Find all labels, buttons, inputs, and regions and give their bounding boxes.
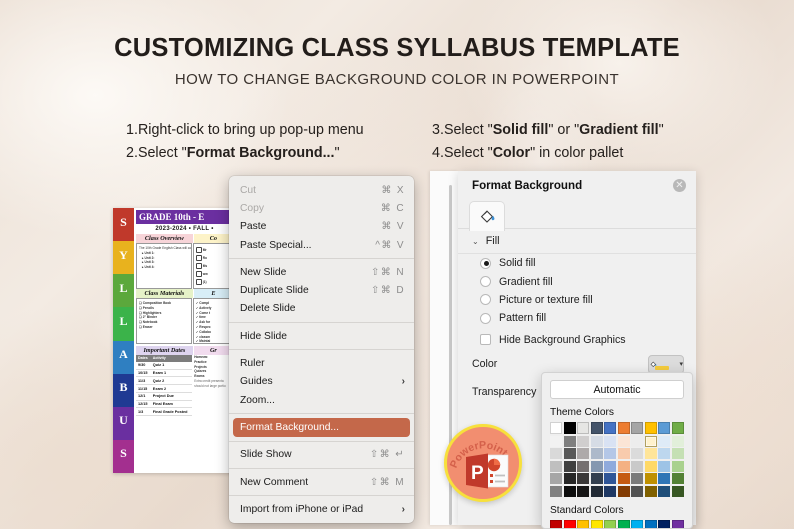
menu-separator [229, 441, 414, 442]
chevron-down-icon[interactable]: ▾ [679, 360, 683, 368]
contact-icon [196, 263, 202, 269]
overview-unit: ▸ Unit 4: [139, 265, 189, 270]
section-important-dates: Important Dates [136, 346, 193, 355]
menu-item-new-comment[interactable]: New Comment⇧⌘ M [229, 473, 414, 491]
theme-swatch-2-0[interactable] [550, 461, 562, 472]
step-2-emphasis: Format Background... [187, 145, 335, 161]
menu-item-shortcut: ⇧⌘ N [371, 267, 405, 278]
standard-swatch-9[interactable] [672, 520, 684, 529]
grading-list: Homewo Practice Projects Quizzes ExamsEx… [193, 355, 233, 416]
menu-item-label: Zoom... [240, 395, 405, 406]
important-dates-table: DatesActivity 9/30Quiz 110/15Exam 111/3Q… [136, 355, 192, 416]
syllabus-tab-0: S [113, 208, 134, 241]
theme-colors-label: Theme Colors [550, 407, 684, 418]
contact-rows: MrRoMsww(1) [193, 243, 233, 289]
menu-item-slide-show[interactable]: Slide Show⇧⌘ ↵ [229, 446, 414, 464]
theme-swatch-0-5[interactable] [618, 436, 630, 447]
grading-note: Extra credit presenta should not large p… [194, 379, 233, 389]
theme-swatch-3-2[interactable] [577, 473, 589, 484]
menu-item-label: Ruler [240, 358, 405, 369]
theme-swatch-1-4[interactable] [604, 448, 616, 459]
menu-item-label: Hide Slide [240, 331, 405, 342]
theme-swatch-2-8[interactable] [658, 461, 670, 472]
contact-row: ww [196, 270, 230, 278]
menu-item-cut: Cut⌘ X [229, 181, 414, 199]
standard-colors-row[interactable] [550, 520, 684, 529]
menu-separator [229, 468, 414, 469]
table-row: 11/15Exam 2 [136, 385, 192, 393]
standard-swatch-1[interactable] [564, 520, 576, 529]
fill-option-label: Pattern fill [499, 312, 546, 324]
section-class-overview: Class Overview [136, 234, 193, 243]
standard-swatch-4[interactable] [604, 520, 616, 529]
fill-option-label: Picture or texture fill [499, 294, 593, 306]
theme-swatch-3-4[interactable] [604, 473, 616, 484]
menu-item-format-background[interactable]: Format Background... [233, 418, 410, 436]
table-row: 10/15Exam 1 [136, 369, 192, 377]
page-title: CUSTOMIZING CLASS SYLLABUS TEMPLATE [0, 34, 794, 63]
menu-item-label: New Slide [240, 267, 371, 278]
hide-background-graphics-option[interactable]: Hide Background Graphics [458, 328, 696, 349]
theme-swatch-4-1[interactable] [564, 486, 576, 497]
contact-icon [196, 255, 202, 261]
step-4: 4.Select "Color" in color pallet [432, 142, 664, 165]
chevron-down-icon: ⌄ [472, 237, 479, 246]
theme-swatch-0-4[interactable] [604, 436, 616, 447]
menu-item-import-from-iphone-or-ipad[interactable]: Import from iPhone or iPad› [229, 500, 414, 518]
theme-swatch-top-2[interactable] [577, 422, 589, 434]
theme-swatch-3-7[interactable] [645, 473, 657, 484]
theme-swatch-0-8[interactable] [658, 436, 670, 447]
steps-left: 1.Right-click to bring up pop-up menu 2.… [126, 119, 364, 165]
contact-row: (1) [196, 278, 230, 286]
theme-swatch-1-9[interactable] [672, 448, 684, 459]
dates-column-header: Activity [151, 355, 192, 362]
radio-button[interactable] [480, 258, 491, 269]
materials-list: ❑ Composition Book❑ Pencils❑ Highlighter… [136, 298, 192, 344]
menu-item-label: Copy [240, 203, 381, 214]
theme-swatch-4-7[interactable] [645, 486, 657, 497]
theme-swatch-4-9[interactable] [672, 486, 684, 497]
theme-swatch-3-8[interactable] [658, 473, 670, 484]
menu-item-hide-slide[interactable]: Hide Slide [229, 327, 414, 345]
contact-row: Ms [196, 262, 230, 270]
theme-swatch-4-0[interactable] [550, 486, 562, 497]
theme-colors-variants[interactable] [550, 436, 684, 497]
fill-option-label: Gradient fill [499, 276, 553, 288]
syllabus-letter-tabs: SYLLABUS [113, 208, 134, 473]
theme-swatch-top-1[interactable] [564, 422, 576, 434]
section-class-materials: Class Materials [136, 289, 193, 298]
chevron-right-icon: › [402, 504, 405, 515]
syllabus-tab-3: L [113, 307, 134, 340]
theme-swatch-3-0[interactable] [550, 473, 562, 484]
theme-swatch-top-8[interactable] [658, 422, 670, 434]
material-item: ❑ Eraser [139, 325, 189, 330]
menu-item-delete-slide[interactable]: Delete Slide [229, 300, 414, 318]
table-row: 12/1Project Due [136, 392, 192, 400]
page-header: CUSTOMIZING CLASS SYLLABUS TEMPLATE HOW … [0, 34, 794, 88]
theme-swatch-0-7[interactable] [645, 436, 657, 447]
table-row: 9/30Quiz 1 [136, 362, 192, 369]
theme-swatch-top-7[interactable] [645, 422, 657, 434]
panel-tabbar [458, 199, 696, 229]
menu-item-ruler[interactable]: Ruler [229, 354, 414, 372]
chevron-right-icon: › [402, 376, 405, 387]
menu-item-guides[interactable]: Guides› [229, 373, 414, 391]
theme-swatch-2-7[interactable] [645, 461, 657, 472]
step-1: 1.Right-click to bring up pop-up menu [126, 119, 364, 142]
menu-item-zoom[interactable]: Zoom... [229, 391, 414, 409]
syllabus-term-line: 2023-2024 • FALL • [136, 224, 233, 234]
standard-colors-label: Standard Colors [550, 505, 684, 516]
syllabus-page: GRADE 10th - E 2023-2024 • FALL • Class … [134, 208, 235, 473]
section-grading: Gr [194, 346, 233, 355]
theme-swatch-0-3[interactable] [591, 436, 603, 447]
expectation-item: ✓ Maintai [196, 339, 230, 344]
powerpoint-badge: PowerPoint P [444, 424, 522, 502]
theme-swatch-2-5[interactable] [618, 461, 630, 472]
step-3: 3.Select "Solid fill" or "Gradient fill" [432, 119, 664, 142]
theme-swatch-1-5[interactable] [618, 448, 630, 459]
menu-item-shortcut: ^⌘ V [375, 240, 405, 251]
theme-swatch-4-3[interactable] [591, 486, 603, 497]
theme-swatch-1-6[interactable] [631, 448, 643, 459]
menu-item-label: Slide Show [240, 449, 370, 460]
theme-swatch-4-6[interactable] [631, 486, 643, 497]
table-row: 12/15Final Exam [136, 400, 192, 408]
menu-item-label: Format Background... [240, 422, 401, 433]
fill-option-pattern-fill[interactable]: Pattern fill [458, 309, 696, 327]
syllabus-banner-title: GRADE 10th - E [136, 210, 233, 224]
syllabus-tab-5: B [113, 374, 134, 407]
theme-swatch-top-4[interactable] [604, 422, 616, 434]
menu-item-label: Cut [240, 185, 381, 196]
color-palette-popup[interactable]: Automatic Theme Colors Standard Colors [541, 372, 693, 529]
fill-option-label: Solid fill [499, 257, 536, 269]
hide-background-graphics-label: Hide Background Graphics [499, 334, 626, 346]
section-expectations: E [194, 289, 233, 298]
menu-separator [229, 258, 414, 259]
color-picker-button[interactable]: ▾ [648, 355, 684, 374]
menu-item-new-slide[interactable]: New Slide⇧⌘ N [229, 263, 414, 281]
contact-row: Mr [196, 246, 230, 254]
menu-item-label: Paste Special... [240, 240, 375, 251]
menu-item-paste[interactable]: Paste⌘ V [229, 218, 414, 236]
theme-swatch-0-6[interactable] [631, 436, 643, 447]
expectations-list: ✓ Compl✓ Actively✓ Come t✓ time✓ Ask for… [193, 298, 233, 344]
theme-colors-top-row[interactable] [550, 422, 684, 434]
theme-swatch-1-2[interactable] [577, 448, 589, 459]
theme-swatch-0-1[interactable] [564, 436, 576, 447]
table-row: 1/3Final Grade Posted [136, 408, 192, 416]
syllabus-slide-thumbnail[interactable]: SYLLABUS GRADE 10th - E 2023-2024 • FALL… [113, 208, 235, 473]
fill-section-header[interactable]: ⌄ Fill [458, 229, 696, 254]
theme-swatch-2-3[interactable] [591, 461, 603, 472]
theme-swatch-2-1[interactable] [564, 461, 576, 472]
syllabus-tab-4: A [113, 341, 134, 374]
menu-separator [229, 349, 414, 350]
menu-item-shortcut: ⌘ X [381, 185, 405, 196]
table-row: 11/3Quiz 2 [136, 377, 192, 385]
theme-swatch-4-8[interactable] [658, 486, 670, 497]
menu-item-shortcut: ⇧⌘ D [371, 285, 405, 296]
theme-swatch-4-5[interactable] [618, 486, 630, 497]
standard-swatch-6[interactable] [631, 520, 643, 529]
contact-icon [196, 279, 202, 285]
contact-row: Ro [196, 254, 230, 262]
syllabus-tab-6: U [113, 407, 134, 440]
contact-icon [196, 247, 202, 253]
theme-swatch-0-2[interactable] [577, 436, 589, 447]
radio-button[interactable] [480, 276, 491, 287]
menu-item-shortcut: ⇧⌘ M [370, 477, 405, 488]
theme-swatch-0-0[interactable] [550, 436, 562, 447]
steps-right: 3.Select "Solid fill" or "Gradient fill"… [432, 119, 664, 165]
standard-swatch-0[interactable] [550, 520, 562, 529]
syllabus-tab-1: Y [113, 241, 134, 274]
theme-swatch-2-6[interactable] [631, 461, 643, 472]
theme-swatch-4-4[interactable] [604, 486, 616, 497]
powerpoint-logo-icon: P [464, 453, 510, 489]
theme-swatch-3-3[interactable] [591, 473, 603, 484]
tab-fill[interactable] [469, 201, 505, 231]
section-contact: Co [194, 234, 233, 243]
theme-swatch-top-6[interactable] [631, 422, 643, 434]
menu-separator [229, 495, 414, 496]
menu-item-label: Guides [240, 376, 402, 387]
page-subtitle: HOW TO CHANGE BACKGROUND COLOR IN POWERP… [0, 71, 794, 88]
menu-item-label: New Comment [240, 477, 370, 488]
theme-swatch-4-2[interactable] [577, 486, 589, 497]
syllabus-tab-7: S [113, 440, 134, 473]
theme-swatch-0-9[interactable] [672, 436, 684, 447]
syllabus-tab-2: L [113, 274, 134, 307]
contact-icon [196, 271, 202, 277]
menu-item-label: Paste [240, 221, 381, 232]
step-2: 2.Select "Format Background..." [126, 142, 364, 165]
menu-item-label: Delete Slide [240, 303, 405, 314]
dates-column-header: Dates [136, 355, 151, 362]
theme-swatch-3-5[interactable] [618, 473, 630, 484]
theme-swatch-1-8[interactable] [658, 448, 670, 459]
theme-swatch-1-7[interactable] [645, 448, 657, 459]
panel-header: Format Background ✕ [458, 171, 696, 199]
theme-swatch-top-5[interactable] [618, 422, 630, 434]
menu-separator [229, 413, 414, 414]
theme-swatch-3-9[interactable] [672, 473, 684, 484]
standard-swatch-3[interactable] [591, 520, 603, 529]
color-label: Color [472, 358, 648, 370]
menu-item-shortcut: ⌘ C [381, 203, 405, 214]
theme-swatch-top-3[interactable] [591, 422, 603, 434]
menu-item-shortcut: ⇧⌘ ↵ [370, 449, 405, 460]
radio-button[interactable] [480, 294, 491, 305]
close-icon[interactable]: ✕ [673, 179, 686, 192]
theme-swatch-3-1[interactable] [564, 473, 576, 484]
fill-option-picture-or-texture-fill[interactable]: Picture or texture fill [458, 291, 696, 309]
standard-swatch-7[interactable] [645, 520, 657, 529]
menu-item-paste-special[interactable]: Paste Special...^⌘ V [229, 236, 414, 254]
theme-swatch-2-9[interactable] [672, 461, 684, 472]
menu-separator [229, 322, 414, 323]
theme-swatch-top-9[interactable] [672, 422, 684, 434]
menu-item-copy: Copy⌘ C [229, 199, 414, 217]
menu-item-label: Import from iPhone or iPad [240, 504, 402, 515]
standard-swatch-8[interactable] [658, 520, 670, 529]
theme-swatch-1-1[interactable] [564, 448, 576, 459]
paint-bucket-icon [477, 207, 497, 227]
context-menu[interactable]: Cut⌘ XCopy⌘ CPaste⌘ VPaste Special...^⌘ … [229, 176, 414, 523]
step-1-text: Right-click to bring up pop-up menu [138, 122, 364, 138]
standard-swatch-5[interactable] [618, 520, 630, 529]
menu-item-label: Duplicate Slide [240, 285, 371, 296]
fill-option-solid-fill[interactable]: Solid fill [458, 254, 696, 272]
panel-title: Format Background [472, 179, 673, 192]
current-color-indicator [655, 366, 669, 370]
theme-swatch-2-2[interactable] [577, 461, 589, 472]
theme-swatch-top-0[interactable] [550, 422, 562, 434]
theme-swatch-1-0[interactable] [550, 448, 562, 459]
theme-swatch-2-4[interactable] [604, 461, 616, 472]
theme-swatch-1-3[interactable] [591, 448, 603, 459]
fill-section-label: Fill [486, 235, 500, 247]
radio-button[interactable] [480, 313, 491, 324]
theme-swatch-3-6[interactable] [631, 473, 643, 484]
menu-item-shortcut: ⌘ V [381, 221, 405, 232]
standard-swatch-2[interactable] [577, 520, 589, 529]
fill-options[interactable]: Solid fillGradient fillPicture or textur… [458, 254, 696, 328]
checkbox[interactable] [480, 334, 491, 345]
menu-item-duplicate-slide[interactable]: Duplicate Slide⇧⌘ D [229, 281, 414, 299]
fill-option-gradient-fill[interactable]: Gradient fill [458, 272, 696, 290]
automatic-button[interactable]: Automatic [550, 380, 684, 399]
svg-text:P: P [471, 463, 484, 484]
